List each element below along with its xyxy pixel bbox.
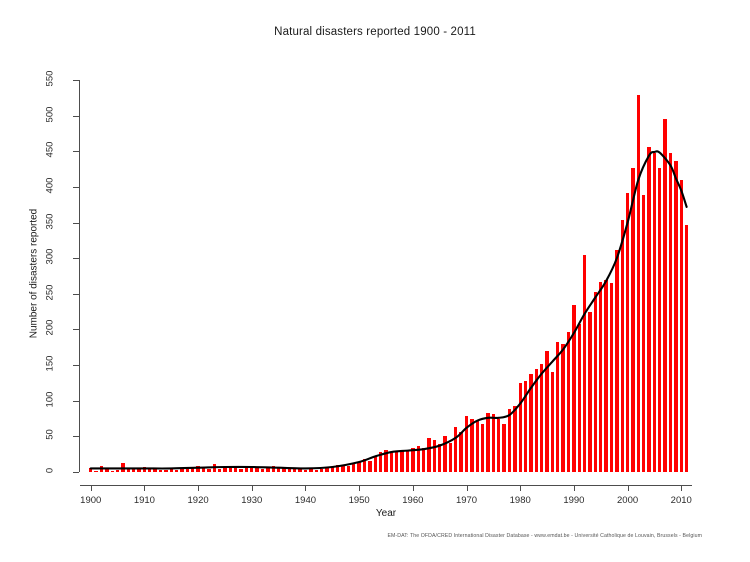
y-axis-tick [73,80,79,81]
x-axis-tick-label: 1910 [124,495,164,506]
x-axis-tick-label: 1990 [554,495,594,506]
x-axis-tick [305,485,306,491]
x-axis-tick [413,485,414,491]
y-axis-tick-label: 150 [45,347,56,381]
x-axis-tick-label: 1920 [178,495,218,506]
x-axis-tick [574,485,575,491]
x-axis-tick [144,485,145,491]
x-axis-tick-label: 2010 [661,495,701,506]
x-axis-tick-label: 1930 [232,495,272,506]
x-axis-tick-label: 1980 [500,495,540,506]
x-axis-line [80,485,692,486]
y-axis-tick-label: 200 [45,311,56,345]
x-axis-tick-label: 1940 [285,495,325,506]
source-credit: EM-DAT: The OFDA/CRED International Disa… [0,533,750,539]
y-axis-tick [73,472,79,473]
y-axis-tick-label: 400 [45,168,56,202]
x-axis-tick-label: 2000 [608,495,648,506]
y-axis-tick-label: 100 [45,382,56,416]
trend-line [80,80,692,472]
y-axis-tick-label: 250 [45,275,56,309]
y-axis-tick-label: 350 [45,204,56,238]
y-axis-tick-label: 450 [45,133,56,167]
x-axis-tick [91,485,92,491]
x-axis-tick-label: 1960 [393,495,433,506]
y-axis-tick-label: 550 [45,62,56,96]
x-axis-tick-label: 1900 [71,495,111,506]
x-axis-tick [467,485,468,491]
y-axis-tick-label: 500 [45,97,56,131]
x-axis-tick-label: 1950 [339,495,379,506]
x-axis-tick [198,485,199,491]
y-axis-tick [73,294,79,295]
x-axis-tick [359,485,360,491]
x-axis-title: Year [80,508,692,519]
y-axis-tick [73,436,79,437]
y-axis-tick [73,151,79,152]
y-axis-tick [73,258,79,259]
y-axis-tick [73,329,79,330]
y-axis-tick [73,223,79,224]
plot-area [80,80,692,472]
x-axis-tick [520,485,521,491]
y-axis-tick [73,116,79,117]
y-axis-tick-label: 0 [45,454,56,488]
y-axis-tick [73,187,79,188]
x-axis-tick [628,485,629,491]
x-axis-tick-label: 1970 [447,495,487,506]
y-axis-tick [73,401,79,402]
y-axis-tick [73,365,79,366]
y-axis-tick-label: 300 [45,240,56,274]
y-axis-tick-label: 50 [45,418,56,452]
chart-title: Natural disasters reported 1900 - 2011 [0,26,750,38]
x-axis-tick [252,485,253,491]
y-axis-title: Number of disasters reported [29,164,40,384]
x-axis-tick [681,485,682,491]
chart-container: Natural disasters reported 1900 - 2011 0… [0,0,750,562]
